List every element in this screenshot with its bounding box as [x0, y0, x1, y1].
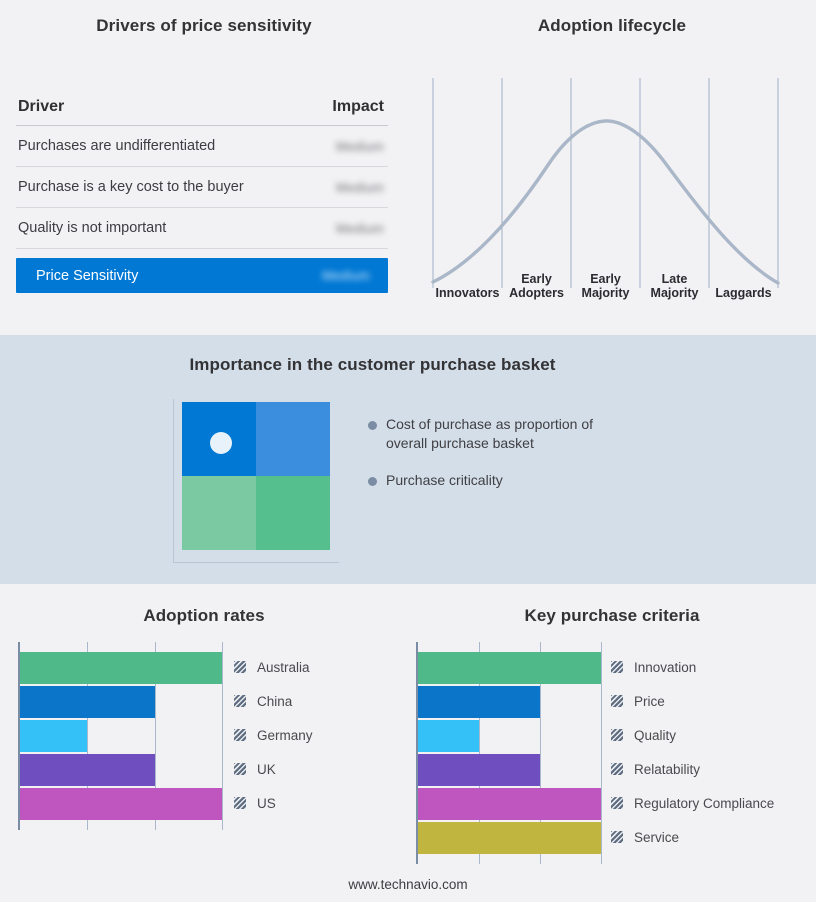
hatched-square-icon — [234, 661, 246, 673]
hatched-square-icon — [611, 695, 623, 707]
bar-row — [418, 720, 601, 752]
table-header-row: Driver Impact — [16, 88, 388, 126]
bar-row — [20, 720, 222, 752]
bar-row — [418, 788, 601, 820]
driver-name: Quality is not important — [18, 220, 166, 236]
quadrant-x-axis — [173, 562, 339, 563]
column-header-driver: Driver — [18, 98, 64, 116]
legend-item[interactable]: Germany — [234, 718, 313, 752]
lifecycle-label-innovators: Innovators — [433, 286, 502, 300]
hatched-square-icon — [611, 729, 623, 741]
bar-price — [418, 686, 540, 718]
summary-label: Price Sensitivity — [36, 268, 138, 284]
lifecycle-curve-chart — [408, 60, 816, 300]
quadrant-bottom-right — [256, 476, 330, 550]
purchase-basket-panel: Importance in the customer purchase bask… — [0, 335, 816, 584]
legend-item[interactable]: Innovation — [611, 650, 774, 684]
gridline — [222, 642, 223, 830]
hatched-square-icon — [234, 695, 246, 707]
legend-item[interactable]: Relatability — [611, 752, 774, 786]
lifecycle-title: Adoption lifecycle — [408, 16, 816, 36]
bar-innovation — [418, 652, 601, 684]
adoption-rates-panel: Adoption rates AustraliaChinaGermanyUKUS — [0, 584, 408, 902]
bar-relatability — [418, 754, 540, 786]
drivers-panel: Drivers of price sensitivity Driver Impa… — [0, 0, 408, 335]
legend-item[interactable]: Australia — [234, 650, 313, 684]
bar-row — [20, 652, 222, 684]
key-purchase-criteria-legend: InnovationPriceQualityRelatabilityRegula… — [611, 650, 774, 854]
key-purchase-criteria-panel: Key purchase criteria InnovationPriceQua… — [408, 584, 816, 902]
legend-label: Service — [634, 830, 679, 845]
table-row: Purchases are undifferentiated Medium — [16, 126, 388, 167]
criteria-title: Key purchase criteria — [408, 606, 816, 626]
summary-impact: Medium — [322, 268, 370, 283]
drivers-title: Drivers of price sensitivity — [0, 16, 408, 36]
legend-item[interactable]: China — [234, 684, 313, 718]
hatched-square-icon — [234, 763, 246, 775]
legend-item[interactable]: US — [234, 786, 313, 820]
legend-label: Quality — [634, 728, 676, 743]
price-sensitivity-summary-row: Price Sensitivity Medium — [16, 258, 388, 293]
bar-row — [20, 788, 222, 820]
bar-quality — [418, 720, 479, 752]
legend-label: China — [257, 694, 292, 709]
lifecycle-dividers — [433, 78, 778, 288]
driver-impact: Medium — [336, 221, 384, 236]
hatched-square-icon — [611, 661, 623, 673]
legend-label: Regulatory Compliance — [634, 796, 774, 811]
bar-germany — [20, 720, 87, 752]
quadrant-bottom-left — [182, 476, 256, 550]
bar-china — [20, 686, 155, 718]
legend-label: Purchase criticality — [386, 471, 503, 490]
bar-row — [20, 754, 222, 786]
bar-row — [418, 652, 601, 684]
lifecycle-label-early-adopters: Early Adopters — [502, 272, 571, 300]
bar-row — [418, 686, 601, 718]
legend-label: US — [257, 796, 276, 811]
driver-impact: Medium — [336, 180, 384, 195]
hatched-square-icon — [234, 729, 246, 741]
legend-label: Germany — [257, 728, 313, 743]
lifecycle-label-late-majority: Late Majority — [640, 272, 709, 300]
driver-name: Purchase is a key cost to the buyer — [18, 179, 244, 195]
legend-label: Relatability — [634, 762, 700, 777]
legend-item[interactable]: UK — [234, 752, 313, 786]
legend-label: UK — [257, 762, 276, 777]
legend-item[interactable]: Regulatory Compliance — [611, 786, 774, 820]
legend-item: Purchase criticality — [368, 471, 668, 490]
bar-australia — [20, 652, 222, 684]
footer-url: www.technavio.com — [0, 877, 816, 892]
bar-row — [418, 822, 601, 854]
legend-label: Cost of purchase as proportion of overal… — [386, 415, 636, 453]
adoption-lifecycle-panel: Adoption lifecycle Innovators Early Adop… — [408, 0, 816, 335]
position-marker-dot — [210, 432, 232, 454]
hatched-square-icon — [611, 763, 623, 775]
adoption-rates-title: Adoption rates — [0, 606, 408, 626]
key-purchase-criteria-chart — [416, 642, 601, 864]
adoption-rates-chart — [18, 642, 222, 830]
bar-service — [418, 822, 601, 854]
driver-impact: Medium — [336, 139, 384, 154]
drivers-table: Driver Impact Purchases are undifferenti… — [16, 88, 388, 293]
bar-regulatory-compliance — [418, 788, 601, 820]
bar-row — [20, 686, 222, 718]
quadrant-chart — [182, 402, 330, 550]
hatched-square-icon — [234, 797, 246, 809]
legend-label: Price — [634, 694, 665, 709]
legend-item[interactable]: Price — [611, 684, 774, 718]
legend-item[interactable]: Service — [611, 820, 774, 854]
table-row: Quality is not important Medium — [16, 208, 388, 249]
legend-label: Australia — [257, 660, 310, 675]
bullet-icon — [368, 421, 377, 430]
legend-item[interactable]: Quality — [611, 718, 774, 752]
bar-uk — [20, 754, 155, 786]
lifecycle-label-early-majority: Early Majority — [571, 272, 640, 300]
hatched-square-icon — [611, 831, 623, 843]
bell-curve-path — [433, 121, 778, 283]
gridline — [601, 642, 602, 864]
driver-name: Purchases are undifferentiated — [18, 138, 215, 154]
adoption-rates-legend: AustraliaChinaGermanyUKUS — [234, 650, 313, 820]
basket-title: Importance in the customer purchase bask… — [0, 355, 745, 375]
quadrant-top-right — [256, 402, 330, 476]
bar-row — [418, 754, 601, 786]
table-row: Purchase is a key cost to the buyer Medi… — [16, 167, 388, 208]
bar-us — [20, 788, 222, 820]
lifecycle-label-laggards: Laggards — [709, 286, 778, 300]
legend-item: Cost of purchase as proportion of overal… — [368, 415, 668, 453]
quadrant-grid — [182, 402, 330, 550]
bullet-icon — [368, 477, 377, 486]
basket-legend: Cost of purchase as proportion of overal… — [368, 415, 668, 508]
hatched-square-icon — [611, 797, 623, 809]
legend-label: Innovation — [634, 660, 696, 675]
quadrant-y-axis — [173, 399, 174, 563]
column-header-impact: Impact — [332, 98, 384, 116]
